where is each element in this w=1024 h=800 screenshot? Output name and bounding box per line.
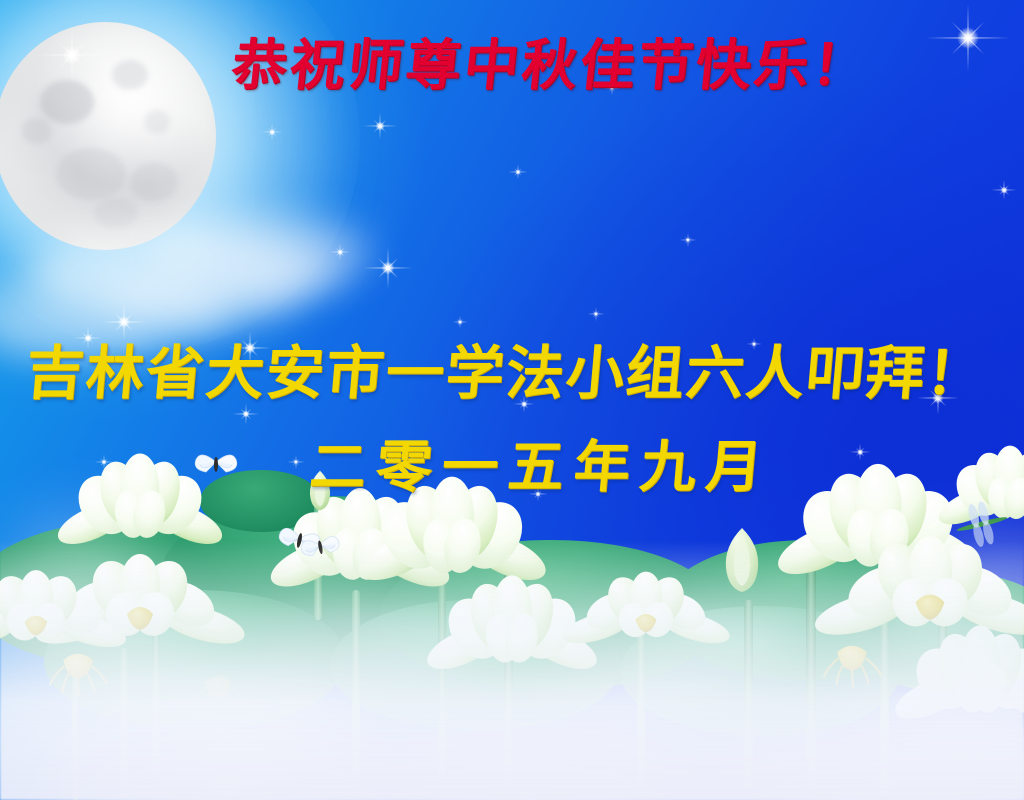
greeting-title: 恭祝师尊中秋佳节快乐！ [229,38,873,93]
date-line: 二零一五年九月 [308,440,775,496]
butterfly-icon [195,455,237,472]
greeting-card: 恭祝师尊中秋佳节快乐！ 吉林省大安市一学法小组六人叩拜！ 二零一五年九月 [0,0,1024,800]
bottom-haze [0,540,1024,800]
sender-line: 吉林省大安市一学法小组六人叩拜！ [23,344,988,402]
